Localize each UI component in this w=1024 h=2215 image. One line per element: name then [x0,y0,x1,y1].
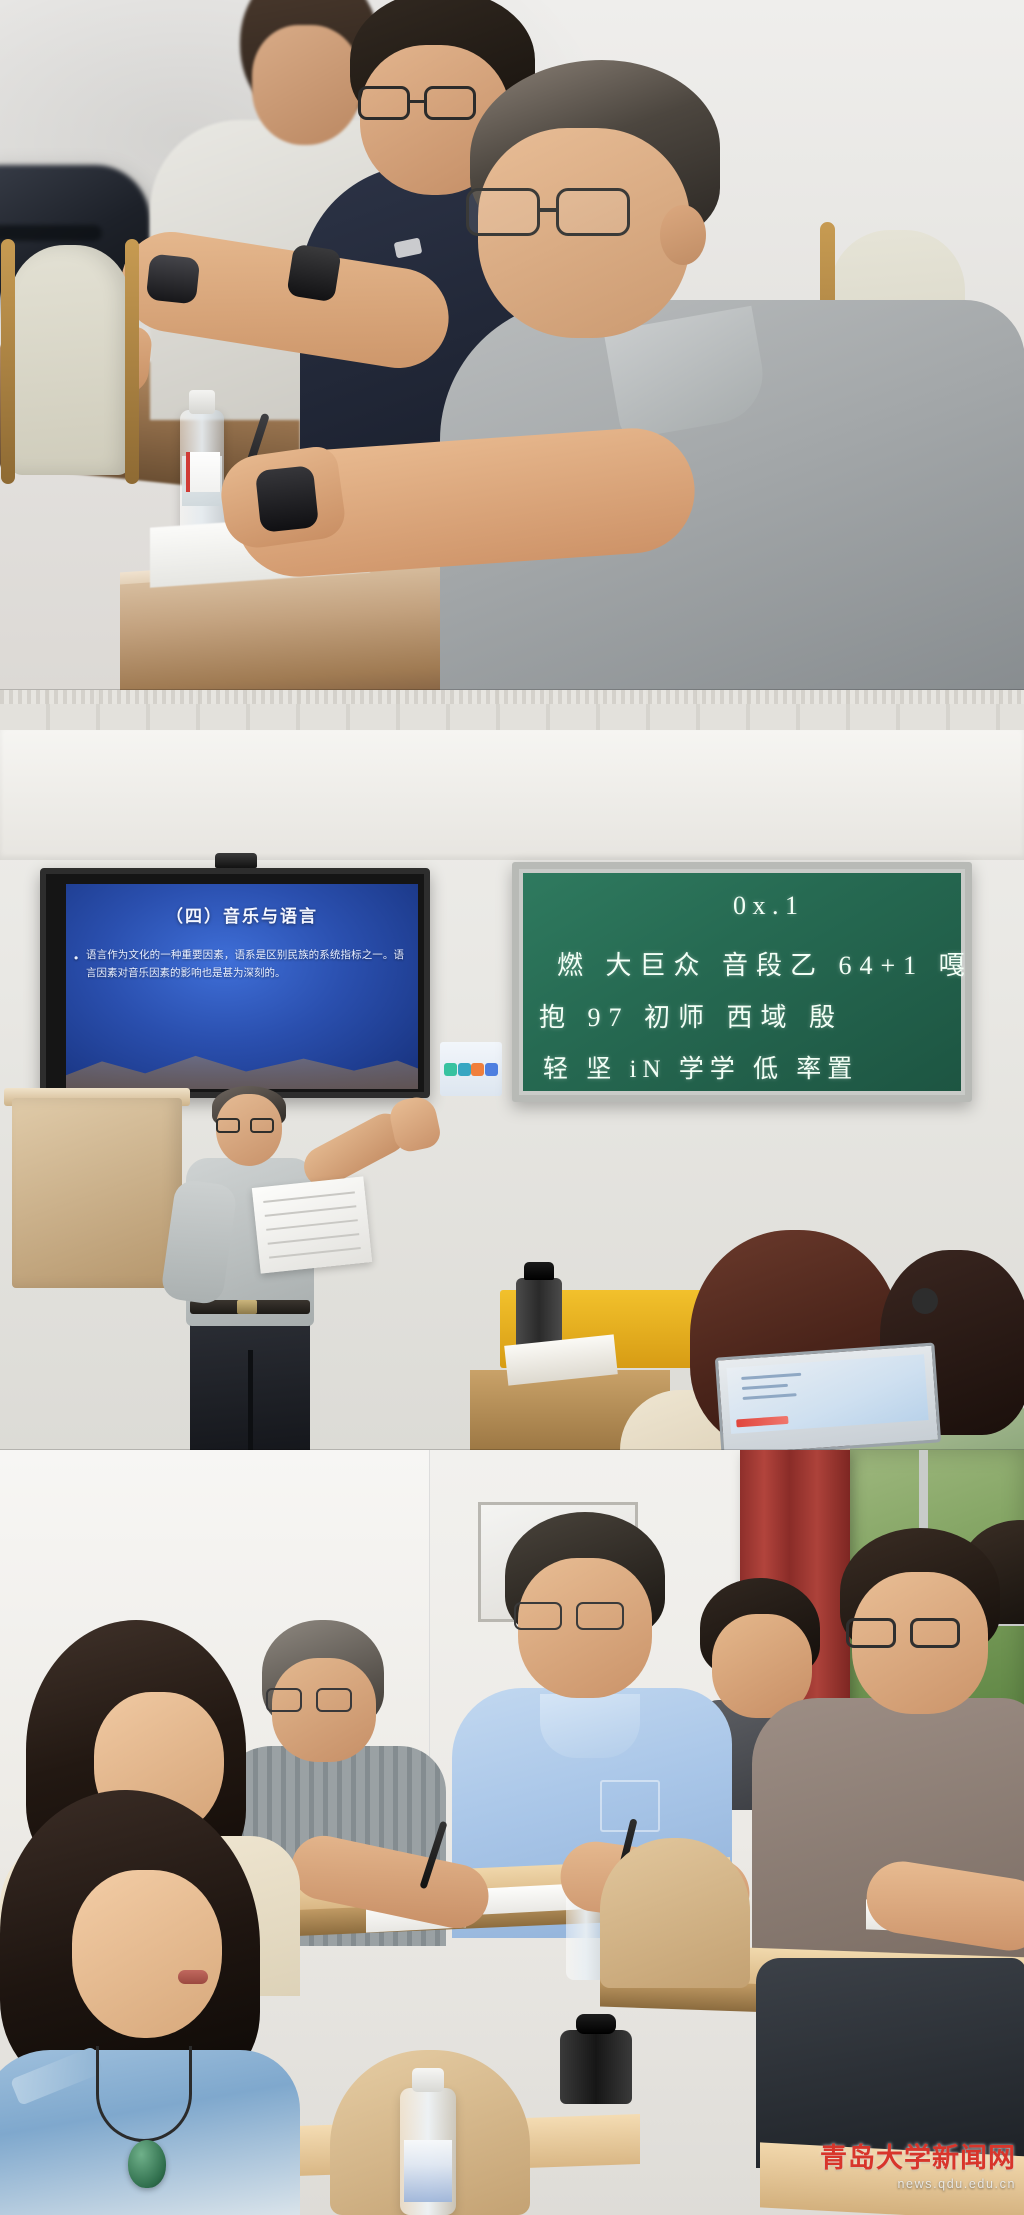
thermos-bottle [560,2030,632,2104]
desk-row-front-right [760,2142,1024,2215]
chalkboard-surface: 0 x . 1 燃 大巨众 音段乙 64+1 嘎 抱 97 初师 西域 殷 轻 … [523,873,961,1091]
smartwatch-icon [146,254,201,305]
record-icon[interactable] [444,1063,457,1076]
bottle-label [186,452,220,492]
student-woman-front-face [72,1870,222,2038]
hair-tie [912,1288,938,1314]
photo-collage-page: （四）音乐与语言 • 语言作为文化的一种重要因素，语系是区别民族的系统指标之一。… [0,0,1024,2215]
eyeglasses-icon [846,1618,966,1648]
jade-pendant [128,2140,166,2188]
lecturer-leg-split [248,1350,253,1450]
chalk-line-1: 0 x . 1 [733,891,798,921]
apps-icon[interactable] [485,1063,498,1076]
smartwatch-icon [255,465,319,533]
board-toolbar[interactable] [440,1042,502,1096]
whiteboard-band [0,730,1024,860]
slide-title: （四）音乐与语言 [66,902,418,927]
ceiling-grid [0,690,1024,704]
bullet-icon: • [74,948,78,969]
banquet-chair-left [10,245,130,475]
smart-board-display[interactable]: （四）音乐与语言 • 语言作为文化的一种重要因素，语系是区别民族的系统指标之一。… [40,868,430,1098]
student-woman-front-lips [178,1970,208,1984]
green-chalkboard: 0 x . 1 燃 大巨众 音段乙 64+1 嘎 抱 97 初师 西域 殷 轻 … [512,862,972,1102]
chalk-line-4: 轻 坚 iN 学学 低 率置 [543,1049,858,1085]
camera-icon[interactable] [458,1063,471,1076]
person-back-face [252,25,362,145]
laptop[interactable] [715,1342,941,1450]
eyeglasses-icon [466,188,636,236]
photo-classroom-students: 青岛大学新闻网 news.qdu.edu.cn [0,1450,1024,2215]
photo-meeting-evaluators [0,0,1024,690]
chair-middle [600,1838,750,1988]
slide-body: • 语言作为文化的一种重要因素，语系是区别民族的系统指标之一。语言因素对音乐因素… [86,946,404,983]
slide-decoration [66,1043,418,1089]
eyeglasses-icon [266,1688,352,1712]
eyeglasses-icon [514,1602,630,1630]
podium [12,1098,182,1288]
camera-icon [215,853,257,868]
student-brown-tee-shorts [756,1958,1024,2168]
person-front-ear [660,205,706,265]
chalk-line-2: 燃 大巨众 音段乙 64+1 嘎 [557,945,973,982]
eyeglasses-icon [216,1118,274,1133]
slide-body-text: 语言作为文化的一种重要因素，语系是区别民族的系统指标之一。语言因素对音乐因素的影… [86,949,404,979]
photo-lecture-presentation: （四）音乐与语言 • 语言作为文化的一种重要因素，语系是区别民族的系统指标之一。… [0,690,1024,1450]
bottle-label [404,2140,452,2202]
eyeglasses-icon [358,86,486,120]
chalk-line-3: 抱 97 初师 西域 殷 [539,997,843,1034]
presentation-slide: （四）音乐与语言 • 语言作为文化的一种重要因素，语系是区别民族的系统指标之一。… [66,884,418,1089]
smartwatch-icon [286,244,342,303]
lecture-notes [252,1176,372,1273]
belt-buckle [237,1300,257,1314]
shirt-collar [540,1694,640,1758]
necklace [96,2046,192,2142]
brush-icon[interactable] [471,1063,484,1076]
